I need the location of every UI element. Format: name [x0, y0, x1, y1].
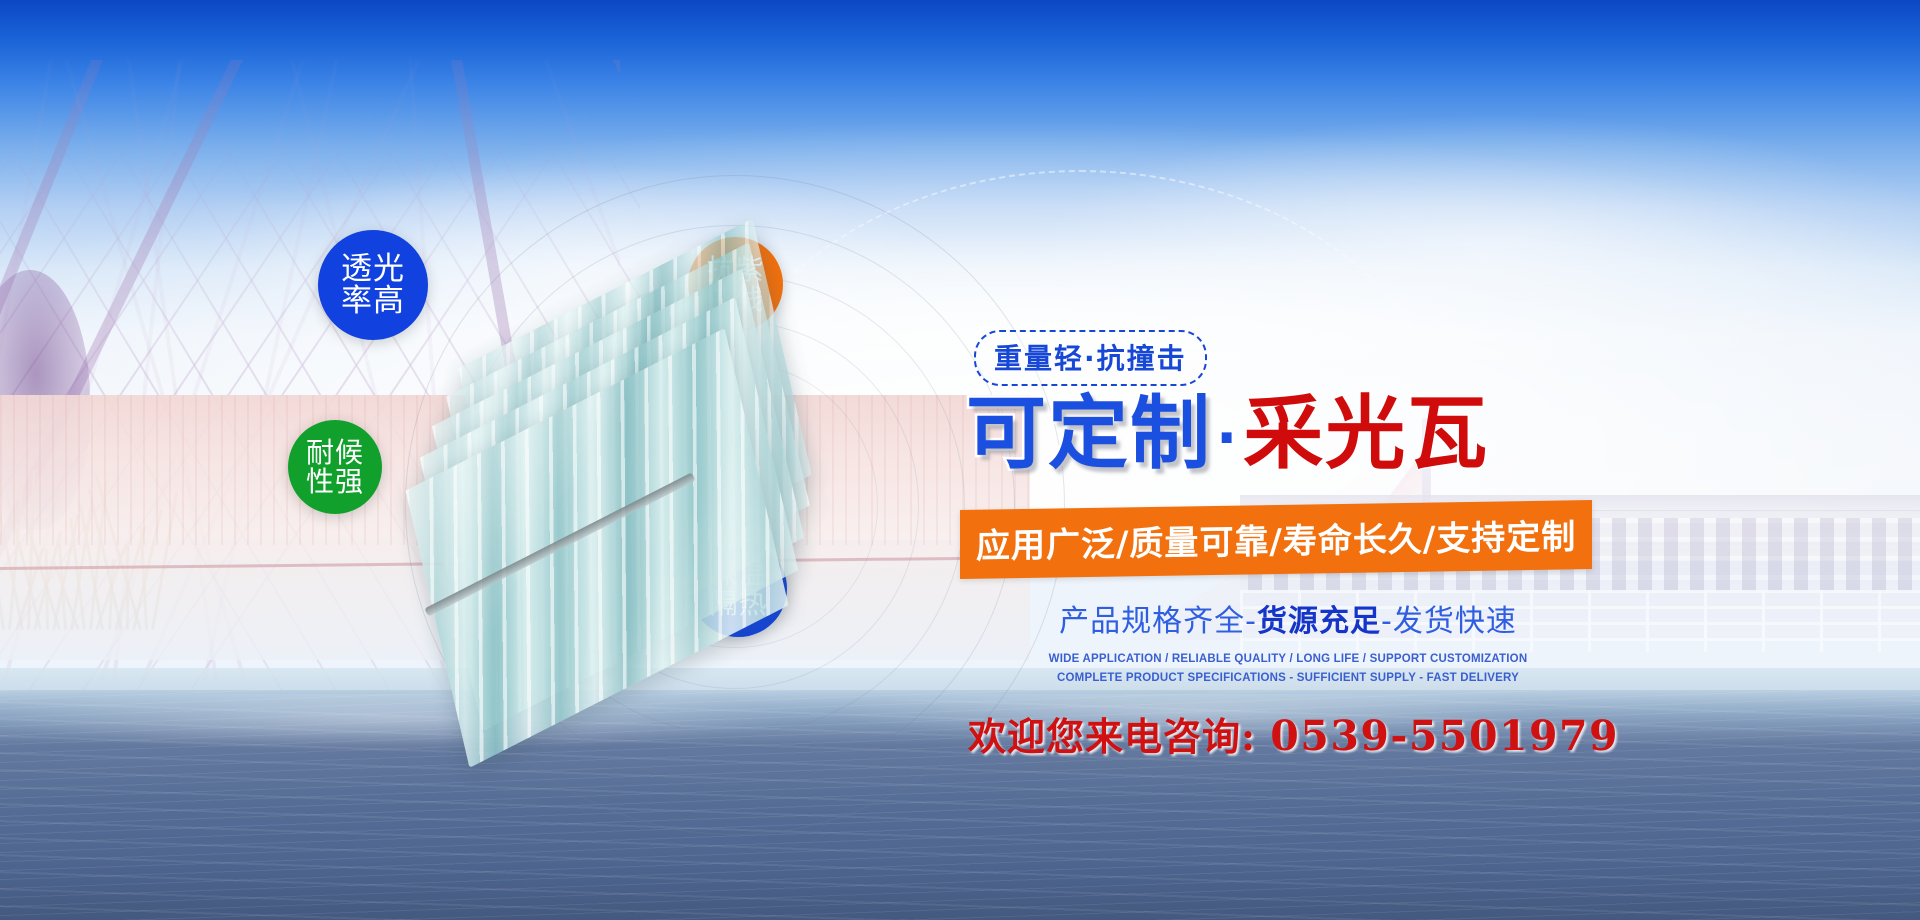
- headline-separator: ·: [1212, 406, 1243, 471]
- headline-red-part: 采光瓦: [1243, 386, 1489, 480]
- badge-line-1: 透光: [341, 253, 405, 285]
- subline-after: -发货快速: [1381, 604, 1517, 639]
- badge-line-2: 性强: [306, 467, 364, 496]
- contact-line: 欢迎您来电咨询: 0539-5501979: [968, 706, 1608, 761]
- feature-strip: 应用广泛/质量可靠/寿命长久/支持定制: [960, 500, 1592, 579]
- badge-line-1: 耐候: [306, 438, 364, 467]
- english-line-1: WIDE APPLICATION / RELIABLE QUALITY / LO…: [978, 650, 1598, 669]
- page-title: 可定制·采光瓦: [966, 390, 1610, 477]
- feature-badge-light-transmittance[interactable]: 透光率高: [318, 230, 428, 340]
- corrugated-roof-panel-product: [430, 290, 860, 710]
- promo-banner: 透光率高抗紫外线耐候性强保温隔热 重量轻·抗撞击 可定制·采光瓦 应用广泛/质量…: [0, 0, 1920, 920]
- phone-number[interactable]: 0539-5501979: [1270, 712, 1619, 760]
- subline-strong: 货源充足: [1257, 604, 1381, 639]
- english-line-2: COMPLETE PRODUCT SPECIFICATIONS - SUFFIC…: [978, 669, 1598, 688]
- headline-blue-part: 可定制: [966, 387, 1212, 480]
- contact-prompt: 欢迎您来电咨询:: [968, 714, 1256, 759]
- feature-tag-pill: 重量轻·抗撞击: [974, 330, 1207, 386]
- badge-line-2: 率高: [341, 285, 405, 317]
- supply-subline: 产品规格齐全-货源充足-发货快速: [978, 596, 1598, 640]
- copy-column: 重量轻·抗撞击 可定制·采光瓦 应用广泛/质量可靠/寿命长久/支持定制 产品规格…: [950, 330, 1610, 761]
- feature-badge-weather-resistant[interactable]: 耐候性强: [288, 420, 382, 514]
- english-subtitle: WIDE APPLICATION / RELIABLE QUALITY / LO…: [978, 650, 1598, 688]
- subline-before: 产品规格齐全-: [1059, 604, 1257, 639]
